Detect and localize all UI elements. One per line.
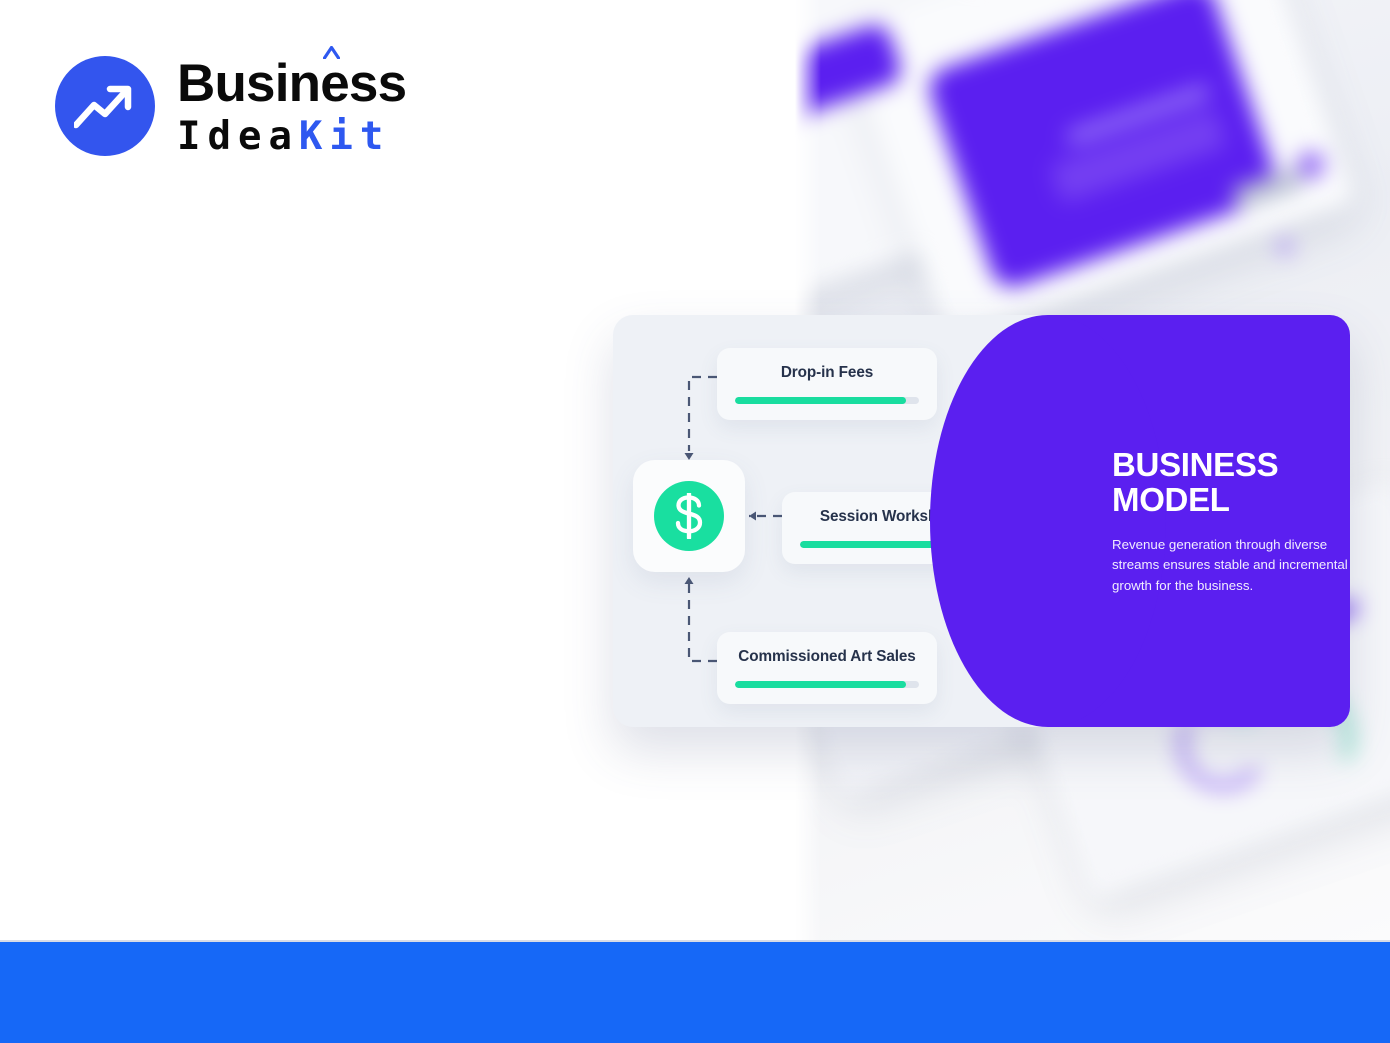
summary-panel-title: BUSINESS MODEL bbox=[1112, 448, 1350, 518]
logo-circle bbox=[55, 56, 155, 156]
summary-panel-description: Revenue generation through diverse strea… bbox=[1112, 535, 1350, 596]
summary-purple-panel: BUSINESS MODEL Revenue generation throug… bbox=[1048, 315, 1350, 727]
revenue-stream-progress-fill bbox=[735, 681, 906, 688]
revenue-stream-card[interactable]: Commissioned Art Sales bbox=[717, 632, 937, 704]
trending-up-arrow-icon bbox=[74, 79, 136, 133]
revenue-stream-progress-track bbox=[735, 681, 919, 688]
summary-panel-content: BUSINESS MODEL Revenue generation throug… bbox=[1112, 448, 1350, 596]
revenue-stream-card[interactable]: Drop-in Fees bbox=[717, 348, 937, 420]
logo-name-text: Business bbox=[177, 54, 406, 113]
slide-root: Business IdeaKit Business Model Outline … bbox=[0, 0, 1390, 1043]
footer-bar bbox=[0, 942, 1390, 1043]
logo-name-secondary: IdeaKit bbox=[177, 117, 406, 156]
revenue-stream-label: Drop-in Fees bbox=[735, 364, 919, 382]
circumflex-accent-icon bbox=[323, 46, 340, 59]
revenue-hub-tile bbox=[633, 460, 745, 572]
logo-idea-text: Idea bbox=[177, 114, 299, 159]
logo-wordmark: Business IdeaKit bbox=[177, 55, 406, 156]
brand-logo[interactable]: Business IdeaKit bbox=[55, 55, 406, 156]
dollar-sign-icon bbox=[654, 481, 724, 551]
background-dot-shape bbox=[1278, 240, 1292, 254]
revenue-stream-progress-fill bbox=[735, 397, 906, 404]
revenue-streams-diagram-card: Drop-in Fees Session Workshops Commissio… bbox=[613, 315, 1350, 727]
dollar-glyph bbox=[669, 493, 709, 539]
background-dot-shape bbox=[1298, 152, 1324, 178]
revenue-stream-progress-track bbox=[735, 397, 919, 404]
logo-kit-text: Kit bbox=[299, 114, 390, 159]
revenue-stream-label: Commissioned Art Sales bbox=[735, 648, 919, 666]
logo-name-primary: Business bbox=[177, 57, 406, 110]
